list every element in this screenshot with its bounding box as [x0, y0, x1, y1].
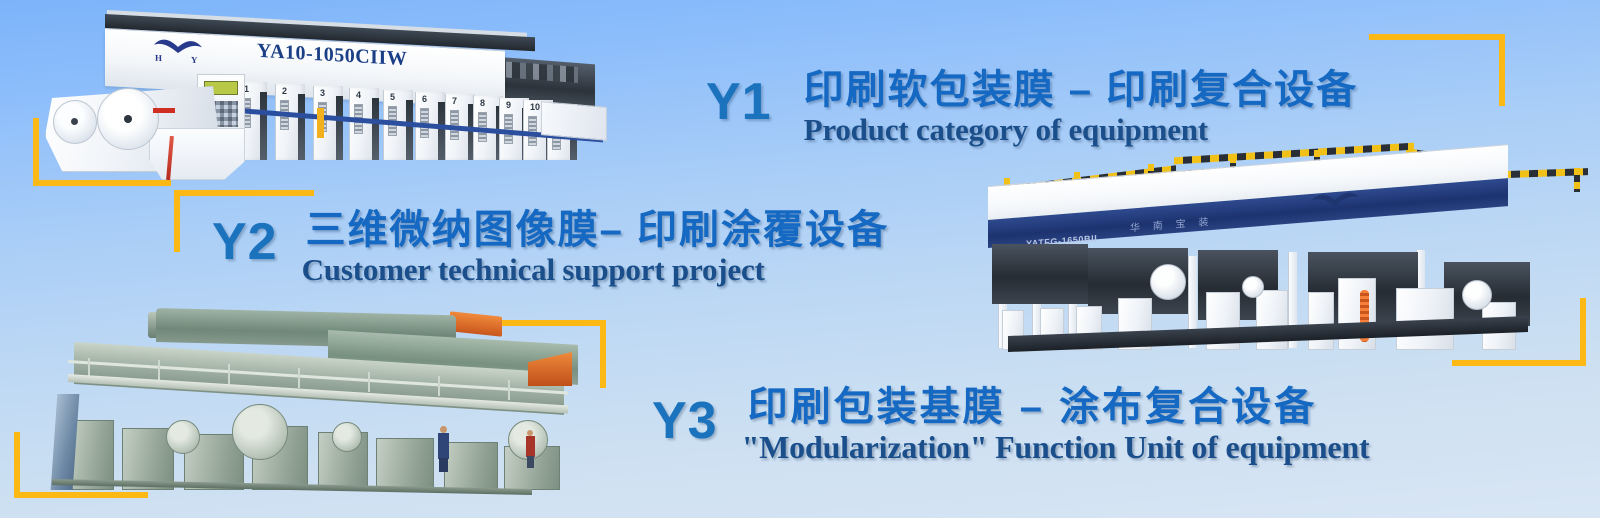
- operator-figure: [438, 426, 449, 472]
- handrail-post: [228, 364, 230, 384]
- operator-legs: [527, 456, 534, 468]
- category-english-y1: Product category of equipment: [804, 113, 1358, 147]
- category-english-y2: Customer technical support project: [302, 253, 889, 287]
- coater-brand-logo-icon: [1308, 190, 1362, 216]
- machine-image-printing-press: H Y YA10-1050CIIW 1 2 3 4 5 6 7 8 9 10: [45, 8, 605, 183]
- category-english-y3: "Modularization" Function Unit of equipm…: [742, 430, 1370, 465]
- category-block-y1: Y1 印刷软包装膜 – 印刷复合设备 Product category of e…: [706, 68, 1358, 147]
- press-unwind-reel-small: [53, 100, 97, 144]
- category-code-y3: Y3: [652, 395, 718, 447]
- bracket-top-left-vertical: [33, 118, 39, 186]
- category-text-y1: 印刷软包装膜 – 印刷复合设备 Product category of equi…: [804, 68, 1358, 147]
- bracket-y3-vertical: [600, 320, 606, 388]
- operator-head: [440, 426, 447, 433]
- press-lower-skirt: [149, 128, 245, 180]
- paper-machine-cabinet: [376, 438, 434, 490]
- category-chinese-y1: 印刷软包装膜 – 印刷复合设备: [804, 68, 1358, 113]
- paper-machine-cabinet: [444, 442, 498, 490]
- paper-machine-drum: [332, 422, 362, 452]
- category-chinese-y3: 印刷包装基膜 – 涂布复合设备: [748, 385, 1370, 430]
- banner-root: H Y YA10-1050CIIW 1 2 3 4 5 6 7 8 9 10: [0, 0, 1600, 518]
- category-text-y3: 印刷包装基膜 – 涂布复合设备 "Modularization" Functio…: [748, 385, 1370, 465]
- coater-control-cabinet: [1338, 278, 1376, 350]
- category-text-y2: 三维微纳图像膜– 印刷涂覆设备 Customer technical suppo…: [306, 208, 889, 287]
- bracket-top-right-vertical: [1499, 34, 1505, 106]
- railing-post: [1574, 168, 1580, 192]
- press-unwind-reel-large: [97, 88, 159, 150]
- operator-torso: [526, 436, 535, 457]
- bracket-y2-horizontal: [174, 190, 314, 196]
- operator-figure-secondary: [526, 430, 535, 468]
- paper-machine-drum: [232, 404, 288, 460]
- handrail-post: [158, 360, 160, 380]
- svg-text:Y: Y: [191, 55, 198, 65]
- paper-machine-drum: [166, 420, 200, 454]
- coater-dark-machinery: [992, 244, 1088, 304]
- coater-roller: [1462, 280, 1492, 310]
- press-yellow-marker: [317, 108, 324, 138]
- coater-roller: [1242, 276, 1264, 298]
- category-code-y1: Y1: [706, 76, 772, 128]
- paper-machine-lower-section: [46, 382, 576, 494]
- category-chinese-y2: 三维微纳图像膜– 印刷涂覆设备: [306, 208, 889, 253]
- press-rewind-section: [541, 101, 607, 141]
- coater-cabinet: [1308, 292, 1334, 350]
- category-block-y3: Y3 印刷包装基膜 – 涂布复合设备 "Modularization" Func…: [652, 385, 1369, 465]
- paper-machine-orange-unit: [450, 311, 502, 336]
- press-brand-logo-icon: H Y: [150, 36, 206, 65]
- operator-torso: [438, 433, 449, 459]
- press-unit: 2: [275, 84, 305, 160]
- bracket-bottom-left-vertical: [14, 432, 20, 498]
- bracket-top-right-horizontal: [1369, 34, 1505, 40]
- operator-legs: [439, 458, 448, 472]
- machine-image-coating-line: 华 南 宝 装 YATFG-1650BII: [978, 150, 1590, 362]
- machine-image-paper-machine: [28, 308, 576, 488]
- bracket-y2-vertical: [174, 190, 180, 252]
- press-red-shaft: [153, 108, 175, 113]
- category-code-y2: Y2: [212, 216, 278, 268]
- svg-text:H: H: [155, 53, 162, 63]
- coater-roller: [1150, 264, 1186, 300]
- category-block-y2: Y2 三维微纳图像膜– 印刷涂覆设备 Customer technical su…: [212, 208, 889, 287]
